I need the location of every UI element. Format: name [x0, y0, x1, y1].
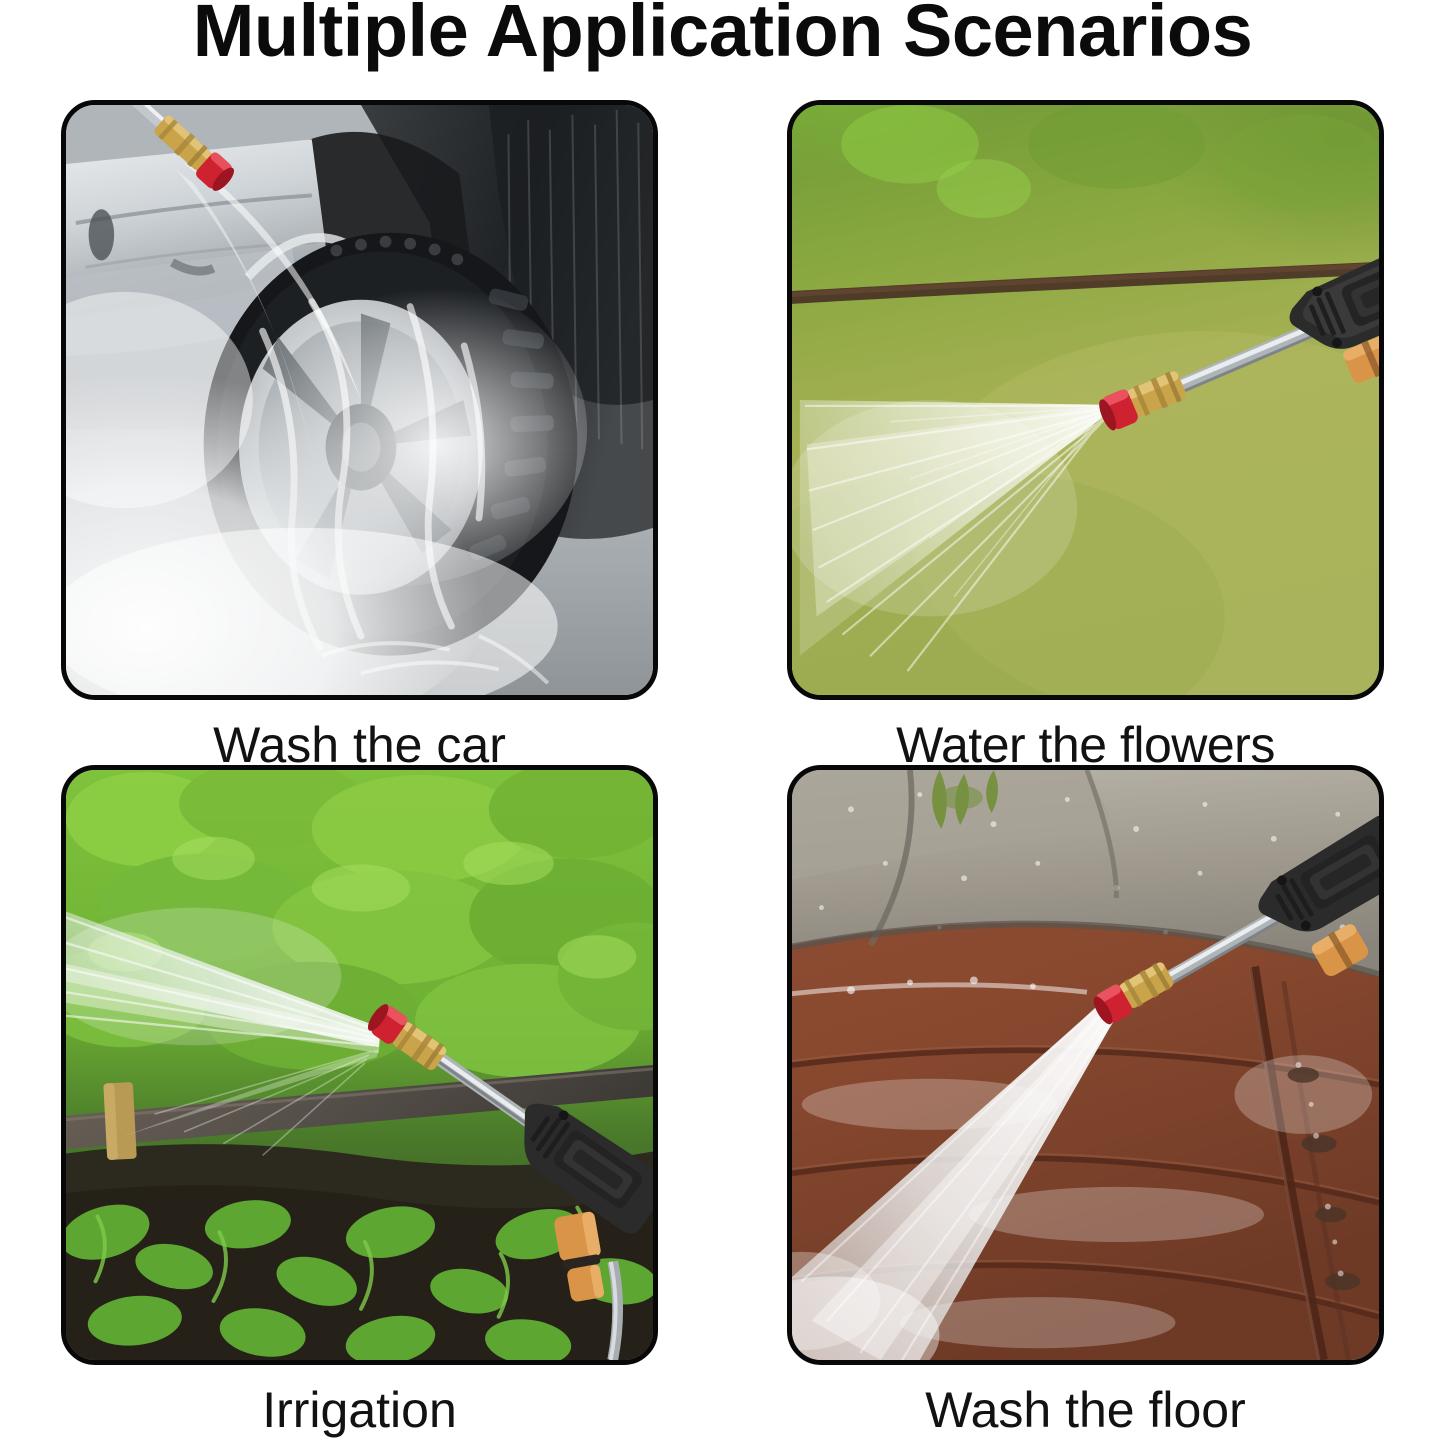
scenario-image-wash-the-car: [61, 100, 658, 700]
panel-caption-wash-the-floor: Wash the floor: [787, 1383, 1384, 1438]
scenario-card-irrigation: Irrigation: [61, 765, 658, 1438]
scenario-image-water-the-flowers: [787, 100, 1384, 700]
garden-jet-spray-illustration: [66, 770, 653, 1360]
car-wheel-foam-spray-illustration: [66, 105, 653, 695]
scenario-card-wash-the-floor: Wash the floor: [787, 765, 1384, 1438]
scenario-card-wash-the-car: Wash the car: [61, 100, 658, 773]
scenario-image-irrigation: [61, 765, 658, 1365]
infographic-page: Multiple Application Scenarios: [0, 0, 1445, 1445]
grass-fan-spray-illustration: [792, 105, 1379, 695]
scenario-grid: Wash the car: [61, 100, 1383, 1440]
scenario-card-water-the-flowers: Water the flowers: [787, 100, 1384, 773]
page-title: Multiple Application Scenarios: [0, 0, 1445, 70]
panel-caption-irrigation: Irrigation: [61, 1383, 658, 1438]
brick-pavement-jet-illustration: [792, 770, 1379, 1360]
scenario-image-wash-the-floor: [787, 765, 1384, 1365]
